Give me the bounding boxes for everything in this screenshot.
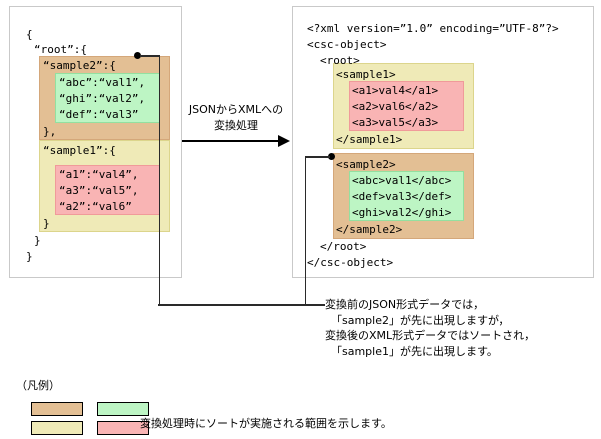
xml-line-11: <def>val3</def> (352, 189, 451, 204)
conversion-arrow-head (278, 135, 290, 147)
xml-line-1: <?xml version=”1.0” encoding=”UTF-8”?> (307, 21, 559, 36)
callout-leader-xml-vertical (305, 156, 307, 305)
legend-description: 変換処理時にソートが実施される範囲を示します。 (140, 415, 392, 431)
annotation-line-3: 変換後のXML形式データではソートされ， (325, 328, 535, 344)
json-line-14: } (26, 249, 33, 264)
xml-line-15: </csc-object> (307, 255, 393, 270)
xml-line-14: </root> (320, 239, 366, 254)
legend-swatch-yellow (31, 421, 83, 435)
conversion-arrow-label-line2: 変換処理 (186, 118, 286, 134)
json-source-panel: { “root”:{ “sample2”:{ “abc”:“val1”, “gh… (9, 6, 182, 278)
xml-line-12: <ghi>val2</ghi> (352, 205, 451, 220)
json-line-5: “ghi”:“val2”, (59, 91, 145, 106)
xml-result-panel: <?xml version=”1.0” encoding=”UTF-8”?> <… (292, 6, 594, 278)
json-line-12: } (43, 216, 50, 231)
annotation-line-4: 「sample1」が先に出現します。 (331, 344, 498, 360)
callout-leader-xml-horizontal (305, 156, 330, 158)
legend-swatch-brown (31, 402, 83, 416)
xml-line-5: <a1>val4</a1> (352, 83, 438, 98)
json-line-8: “sample1”:{ (43, 143, 116, 158)
callout-leader-json-vertical (159, 55, 161, 305)
json-line-1: { (26, 27, 33, 42)
json-line-4: “abc”:“val1”, (59, 75, 145, 90)
xml-line-9: <sample2> (336, 157, 396, 172)
json-line-10: “a3”:“val5”, (59, 183, 138, 198)
xml-line-4: <sample1> (336, 67, 396, 82)
diagram-canvas: { “root”:{ “sample2”:{ “abc”:“val1”, “gh… (0, 0, 601, 439)
conversion-arrow-shaft (182, 140, 282, 142)
xml-line-7: <a3>val5</a3> (352, 115, 438, 130)
json-line-7: }, (43, 124, 56, 139)
xml-line-10: <abc>val1</abc> (352, 173, 451, 188)
json-line-13: } (34, 233, 41, 248)
annotation-line-1: 変換前のJSON形式データでは， (325, 297, 484, 313)
conversion-arrow-label-line1: JSONからXMLへの (186, 102, 286, 118)
callout-leader-baseline (158, 304, 325, 306)
json-line-9: “a1”:“val4”, (59, 167, 138, 182)
json-line-3: “sample2”:{ (43, 58, 116, 73)
legend-title: （凡例） (16, 377, 60, 393)
xml-line-8: </sample1> (336, 132, 402, 147)
json-line-6: “def”:“val3” (59, 107, 138, 122)
json-line-2: “root”:{ (34, 42, 87, 57)
annotation-line-2: 「sample2」が先に出現しますが， (331, 313, 509, 329)
legend-swatch-green (97, 402, 149, 416)
xml-line-3: <root> (320, 53, 360, 68)
callout-leader-json-horizontal (140, 55, 160, 57)
xml-line-13: </sample2> (336, 222, 402, 237)
json-line-11: “a2”:“val6” (59, 199, 132, 214)
xml-line-2: <csc-object> (307, 37, 386, 52)
xml-line-6: <a2>val6</a2> (352, 99, 438, 114)
